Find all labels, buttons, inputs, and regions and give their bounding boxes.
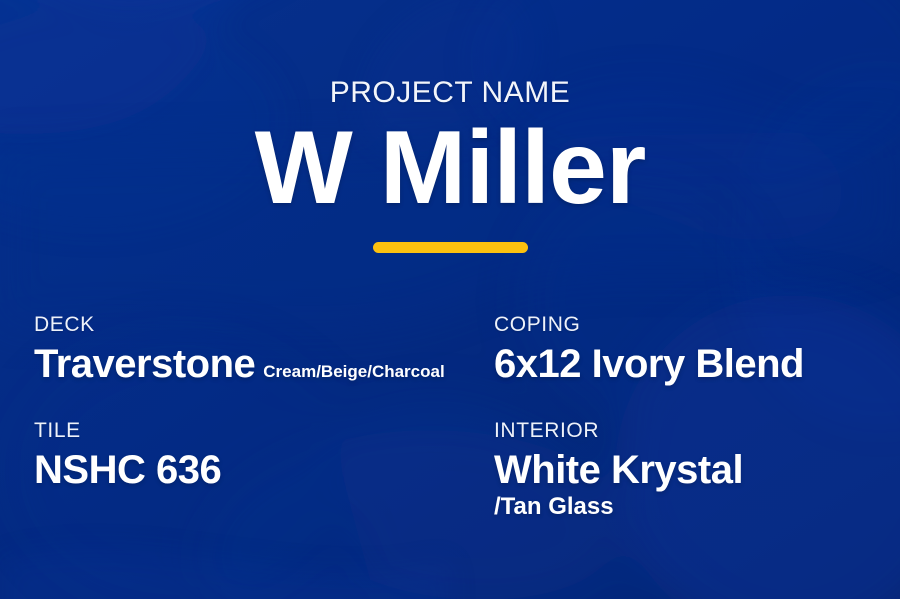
spec-item-interior: INTERIOR White Krystal /Tan Glass <box>494 420 743 521</box>
spec-label-tile: TILE <box>34 420 221 441</box>
spec-value-coping: 6x12 Ivory Blend <box>494 343 804 386</box>
project-spec-card: PROJECT NAME W Miller DECK TraverstoneCr… <box>0 0 900 599</box>
spec-label-coping: COPING <box>494 314 804 335</box>
spec-value-tile: NSHC 636 <box>34 449 221 492</box>
spec-value-interior: White Krystal <box>494 449 743 492</box>
spec-label-deck: DECK <box>34 314 445 335</box>
spec-value-deck: TraverstoneCream/Beige/Charcoal <box>34 343 445 386</box>
spec-value-coping-main: 6x12 Ivory Blend <box>494 342 804 386</box>
spec-label-interior: INTERIOR <box>494 420 743 441</box>
accent-divider <box>373 242 528 253</box>
spec-subvalue-interior: /Tan Glass <box>494 494 743 520</box>
spec-item-deck: DECK TraverstoneCream/Beige/Charcoal <box>34 314 445 386</box>
spec-suffix-deck: Cream/Beige/Charcoal <box>263 362 444 381</box>
card-header: PROJECT NAME W Miller <box>0 78 900 253</box>
spec-item-tile: TILE NSHC 636 <box>34 420 221 492</box>
spec-value-deck-main: Traverstone <box>34 342 255 386</box>
spec-grid: DECK TraverstoneCream/Beige/Charcoal COP… <box>0 310 900 590</box>
eyebrow-label: PROJECT NAME <box>0 78 900 108</box>
spec-item-coping: COPING 6x12 Ivory Blend <box>494 314 804 386</box>
spec-value-interior-main: White Krystal <box>494 448 743 492</box>
project-title: W Miller <box>0 116 900 220</box>
spec-value-tile-main: NSHC 636 <box>34 448 221 492</box>
